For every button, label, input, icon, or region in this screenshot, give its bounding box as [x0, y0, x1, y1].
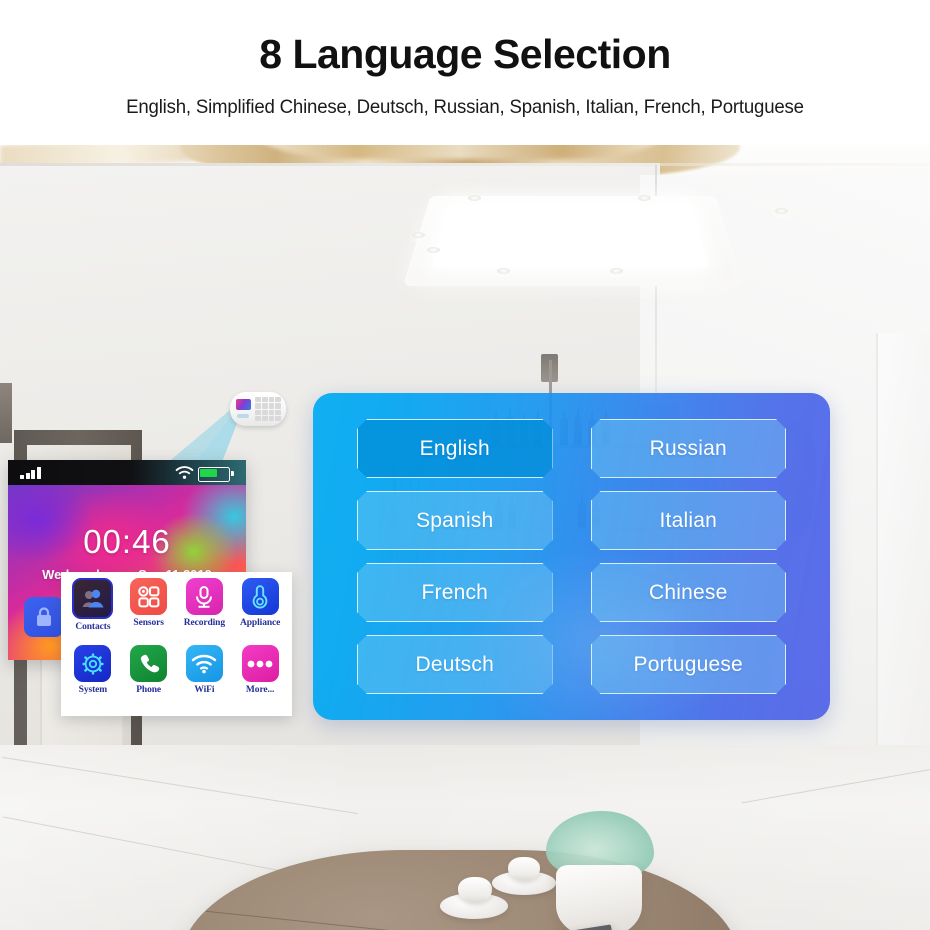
battery-level-fill — [200, 469, 217, 477]
app-label: WiFi — [194, 685, 214, 695]
language-button-spanish[interactable]: Spanish — [357, 491, 553, 550]
page-root: 00:46 Wednesday Sep 11 2019 — [0, 0, 930, 930]
phone-icon — [130, 645, 167, 682]
app-label: Phone — [136, 685, 161, 695]
contacts-icon — [72, 578, 113, 619]
app-label: More... — [246, 685, 274, 695]
microphone-icon — [186, 578, 223, 615]
device-clock: 00:46 — [8, 523, 246, 561]
app-label: Appliance — [240, 618, 280, 628]
app-item-system[interactable]: System — [65, 645, 121, 712]
coffee-cup — [508, 857, 540, 881]
page-subtitle: English, Simplified Chinese, Deutsch, Ru… — [21, 96, 909, 119]
app-item-appliance[interactable]: Appliance — [232, 578, 288, 645]
keypad-keys[interactable] — [255, 397, 281, 421]
coffee-cup — [458, 877, 492, 903]
language-selection-panel: English Russian Spanish Italian French C… — [313, 393, 830, 720]
ceiling-light-panel — [431, 205, 709, 267]
app-item-sensors[interactable]: Sensors — [121, 578, 177, 645]
downlight-icon — [638, 195, 651, 201]
wifi-icon — [175, 465, 194, 480]
wall-keypad-device[interactable] — [230, 392, 286, 426]
language-button-grid: English Russian Spanish Italian French C… — [313, 393, 830, 720]
language-button-italian[interactable]: Italian — [591, 491, 787, 550]
downlight-icon — [610, 268, 623, 274]
wifi-icon — [186, 645, 223, 682]
downlight-icon — [427, 247, 440, 253]
app-item-phone[interactable]: Phone — [121, 645, 177, 712]
keypad-led-strip — [237, 414, 249, 418]
signal-bars-icon — [20, 467, 44, 479]
header-band: 8 Language Selection English, Simplified… — [0, 0, 930, 145]
app-item-contacts[interactable]: Contacts — [65, 578, 121, 645]
language-button-deutsch[interactable]: Deutsch — [357, 635, 553, 694]
app-item-recording[interactable]: Recording — [177, 578, 233, 645]
lock-icon[interactable] — [24, 597, 64, 637]
app-label: Sensors — [133, 618, 163, 628]
battery-icon — [198, 467, 230, 482]
device-app-grid[interactable]: Contacts Sensors — [61, 572, 292, 716]
gear-icon — [74, 645, 111, 682]
door-right — [876, 333, 930, 763]
plant-pot — [556, 865, 642, 930]
thermometer-icon — [242, 578, 279, 615]
language-button-portuguese[interactable]: Portuguese — [591, 635, 787, 694]
keypad-screen — [236, 399, 251, 410]
app-label: Contacts — [75, 622, 110, 632]
language-button-french[interactable]: French — [357, 563, 553, 622]
downlight-icon — [497, 268, 510, 274]
device-status-bar — [8, 460, 246, 485]
app-item-more[interactable]: More... — [232, 645, 288, 712]
language-button-chinese[interactable]: Chinese — [591, 563, 787, 622]
downlight-icon — [775, 208, 788, 214]
language-button-english[interactable]: English — [357, 419, 553, 478]
wall-ceiling-edge — [0, 163, 930, 166]
more-dots-icon — [242, 645, 279, 682]
app-label: Recording — [184, 618, 225, 628]
downlight-icon — [412, 232, 425, 238]
app-label: System — [79, 685, 107, 695]
language-button-russian[interactable]: Russian — [591, 419, 787, 478]
app-item-wifi[interactable]: WiFi — [177, 645, 233, 712]
downlight-icon — [468, 195, 481, 201]
page-title: 8 Language Selection — [0, 33, 930, 76]
sensors-icon — [130, 578, 167, 615]
